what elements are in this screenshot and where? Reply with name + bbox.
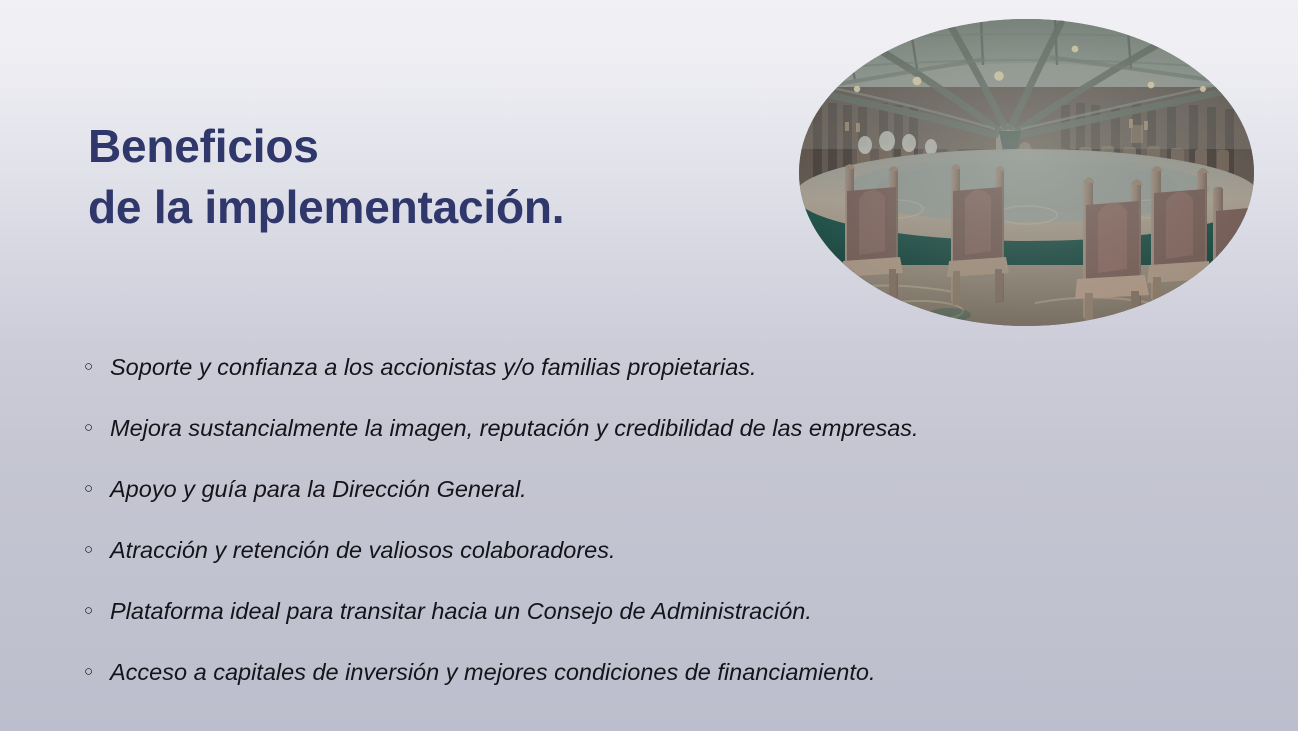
list-item-text: Apoyo y guía para la Dirección General.: [110, 474, 527, 504]
bullet-circle-icon: ○: [78, 474, 110, 504]
presentation-slide: Beneficios de la implementación.: [0, 0, 1298, 731]
list-item: ○ Apoyo y guía para la Dirección General…: [78, 474, 1238, 535]
list-item: ○ Acceso a capitales de inversión y mejo…: [78, 657, 1238, 718]
bullet-circle-icon: ○: [78, 535, 110, 565]
title-line-2: de la implementación.: [88, 177, 788, 238]
benefits-list: ○ Soporte y confianza a los accionistas …: [78, 352, 1238, 718]
bullet-circle-icon: ○: [78, 596, 110, 626]
list-item-text: Plataforma ideal para transitar hacia un…: [110, 596, 812, 626]
slide-title: Beneficios de la implementación.: [88, 116, 788, 237]
list-item-text: Mejora sustancialmente la imagen, reputa…: [110, 413, 919, 443]
list-item-text: Soporte y confianza a los accionistas y/…: [110, 352, 757, 382]
list-item: ○ Atracción y retención de valiosos cola…: [78, 535, 1238, 596]
boardroom-illustration: [799, 19, 1254, 326]
bullet-circle-icon: ○: [78, 413, 110, 443]
list-item-text: Atracción y retención de valiosos colabo…: [110, 535, 616, 565]
bullet-circle-icon: ○: [78, 352, 110, 382]
boardroom-oval-image: [799, 19, 1254, 326]
list-item: ○ Plataforma ideal para transitar hacia …: [78, 596, 1238, 657]
list-item: ○ Mejora sustancialmente la imagen, repu…: [78, 413, 1238, 474]
list-item-text: Acceso a capitales de inversión y mejore…: [110, 657, 875, 687]
list-item: ○ Soporte y confianza a los accionistas …: [78, 352, 1238, 413]
bullet-circle-icon: ○: [78, 657, 110, 687]
title-line-1: Beneficios: [88, 116, 788, 177]
